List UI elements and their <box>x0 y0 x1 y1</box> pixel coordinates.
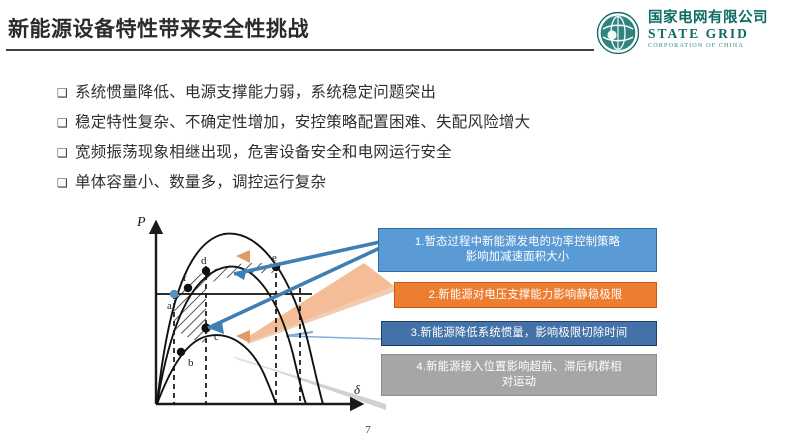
page-title: 新能源设备特性带来安全性挑战 <box>8 13 309 43</box>
callout-connectors <box>232 263 394 410</box>
list-item-label: 系统惯量降低、电源支撑能力弱，系统稳定问题突出 <box>75 78 436 108</box>
callout-2-line-1: 2.新能源对电压支撑能力影响静稳极限 <box>429 288 623 303</box>
point-f-label: f <box>183 272 187 284</box>
callout-box-4[interactable]: 4.新能源接入位置影响超前、滞后机群相 对运动 <box>381 354 657 396</box>
list-item: ❑ 稳定特性复杂、不确定性增加，安控策略配置困难、失配风险增大 <box>57 108 677 138</box>
brand-name-en: STATE GRID <box>648 26 794 41</box>
callout-4-line-1: 4.新能源接入位置影响超前、滞后机群相 <box>416 360 621 375</box>
callout-4-line-2: 对运动 <box>416 375 621 390</box>
list-item: ❑ 宽频振荡现象相继出现，危害设备安全和电网运行安全 <box>57 138 677 168</box>
page-number: 7 <box>356 424 380 436</box>
point-b-marker <box>177 348 185 356</box>
bullet-square-icon: ❑ <box>57 138 75 168</box>
point-d-marker <box>202 267 210 275</box>
bullet-square-icon: ❑ <box>57 78 75 108</box>
list-item-label: 宽频振荡现象相继出现，危害设备安全和电网运行安全 <box>75 138 452 168</box>
brand-logo: 国家电网有限公司 STATE GRID CORPORATION OF CHINA <box>596 10 794 54</box>
title-underline <box>6 49 594 51</box>
fault-curve <box>157 335 276 404</box>
y-axis-label: P <box>136 215 146 230</box>
point-a-label: a <box>167 300 172 312</box>
brand-name-cn: 国家电网有限公司 <box>648 10 794 26</box>
list-item: ❑ 单体容量小、数量多，调控运行复杂 <box>57 168 677 198</box>
list-item: ❑ 系统惯量降低、电源支撑能力弱，系统稳定问题突出 <box>57 78 677 108</box>
list-item-label: 单体容量小、数量多，调控运行复杂 <box>75 168 326 198</box>
brand-logo-text: 国家电网有限公司 STATE GRID CORPORATION OF CHINA <box>648 10 794 50</box>
list-item-label: 稳定特性复杂、不确定性增加，安控策略配置困难、失配风险增大 <box>75 108 530 138</box>
callout-3-line-1: 3.新能源降低系统惯量，影响极限切除时间 <box>411 326 628 341</box>
connector-orange-arrowhead-upper <box>236 250 250 263</box>
point-f-marker <box>184 284 192 292</box>
callout-box-3[interactable]: 3.新能源降低系统惯量，影响极限切除时间 <box>381 321 657 346</box>
point-c-label: c <box>214 331 219 343</box>
callout-box-2[interactable]: 2.新能源对电压支撑能力影响静稳极限 <box>394 282 657 308</box>
x-axis-label: δ <box>354 382 361 397</box>
point-d-label: d <box>201 255 207 267</box>
bullet-list: ❑ 系统惯量降低、电源支撑能力弱，系统稳定问题突出 ❑ 稳定特性复杂、不确定性增… <box>57 78 677 198</box>
brand-name-sub: CORPORATION OF CHINA <box>648 41 794 50</box>
point-b-label: b <box>188 357 194 369</box>
bullet-square-icon: ❑ <box>57 108 75 138</box>
callout-1-line-1: 1.暂态过程中新能源发电的功率控制策略 <box>415 235 620 250</box>
connector-gray-callout4b <box>232 356 386 404</box>
slide-header: 新能源设备特性带来安全性挑战 国家电网有限公司 STATE GRID CORPO… <box>0 0 800 58</box>
state-grid-emblem-icon <box>596 11 640 55</box>
slide-canvas: 新能源设备特性带来安全性挑战 国家电网有限公司 STATE GRID CORPO… <box>0 0 800 447</box>
point-e-label: e <box>272 252 277 264</box>
callout-1-line-2: 影响加减速面积大小 <box>415 250 620 265</box>
bullet-square-icon: ❑ <box>57 168 75 198</box>
point-a-marker <box>170 290 178 298</box>
callout-box-1[interactable]: 1.暂态过程中新能源发电的功率控制策略 影响加减速面积大小 <box>378 228 657 272</box>
